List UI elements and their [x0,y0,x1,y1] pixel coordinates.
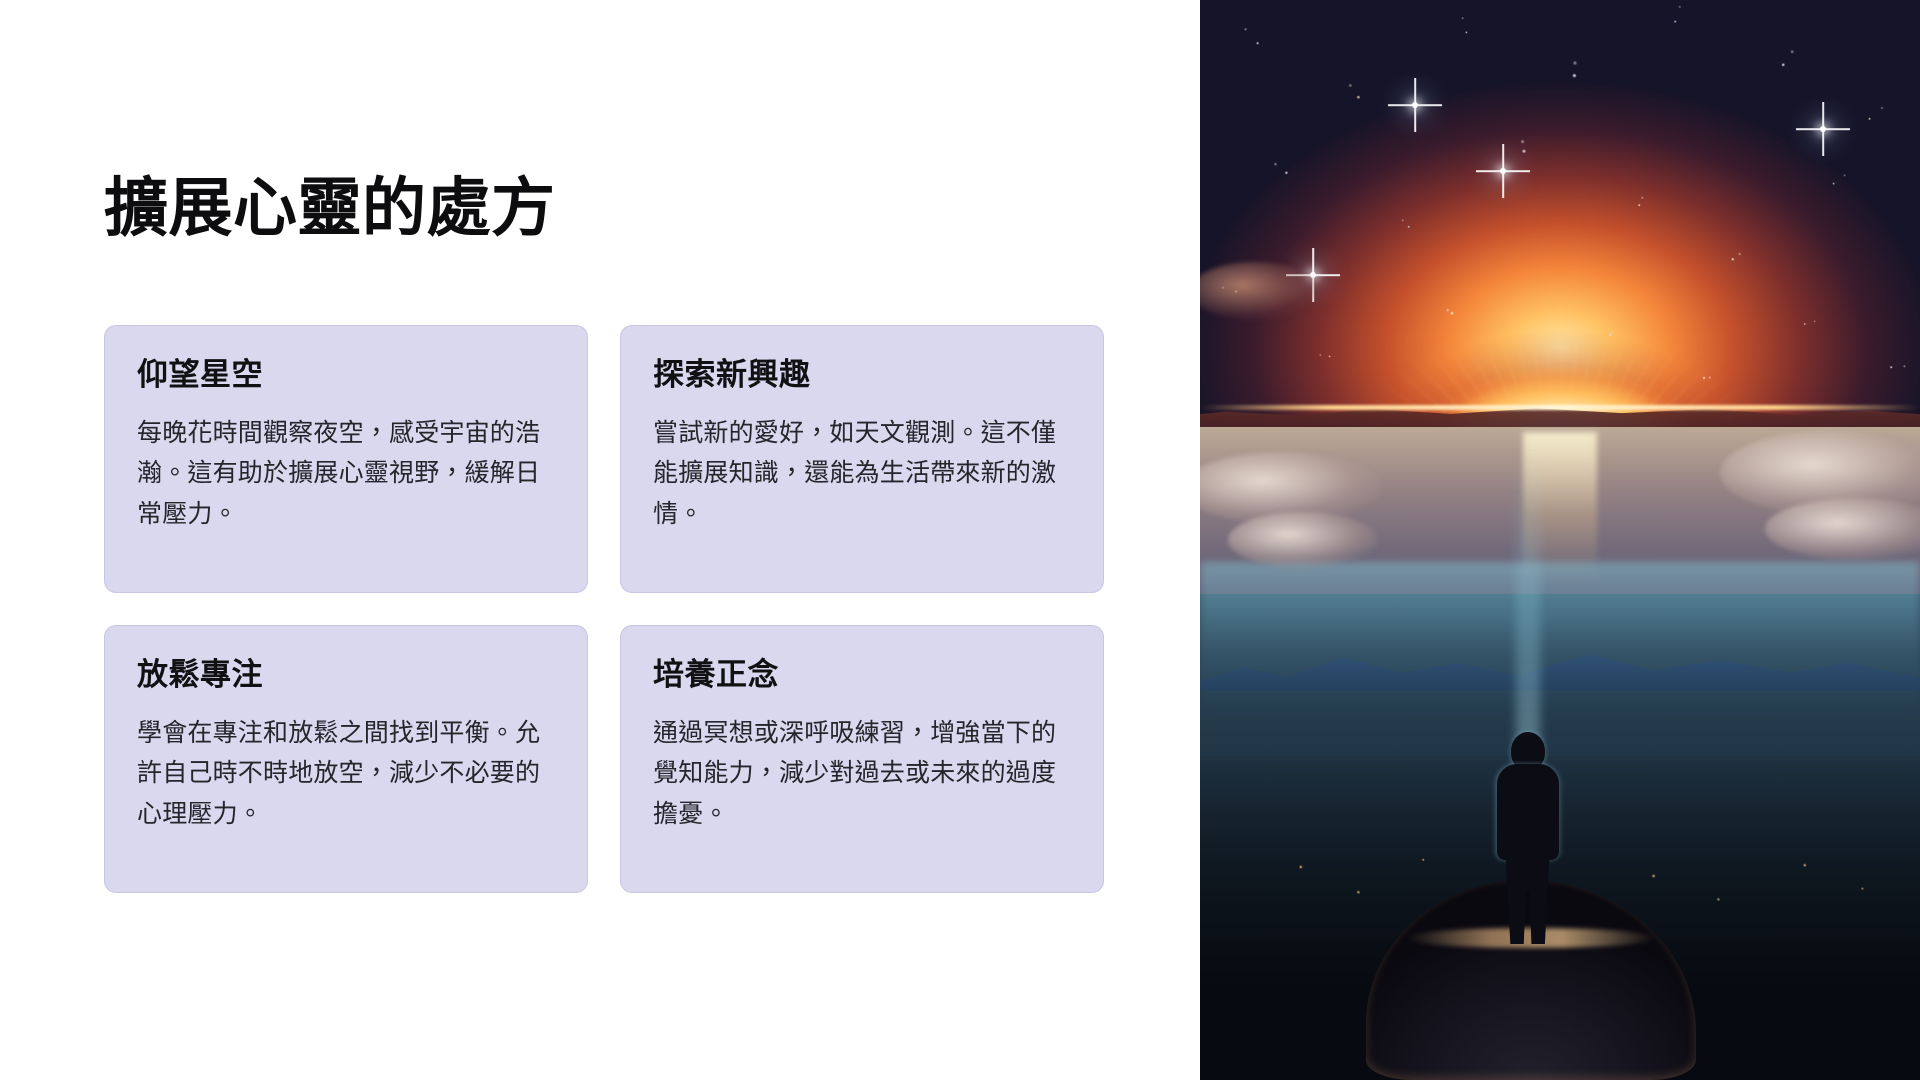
card-item-4[interactable]: 培養正念 通過冥想或深呼吸練習，增強當下的覺知能力，減少對過去或未來的過度擔憂。 [620,625,1104,893]
cloud-shape [1228,512,1378,568]
card-item-1[interactable]: 仰望星空 每晚花時間觀察夜空，感受宇宙的浩瀚。這有助於擴展心靈視野，緩解日常壓力… [104,325,588,593]
card-item-3[interactable]: 放鬆專注 學會在專注和放鬆之間找到平衡。允許自己時不時地放空，減少不必要的心理壓… [104,625,588,893]
slide-root: 擴展心靈的處方 仰望星空 每晚花時間觀察夜空，感受宇宙的浩瀚。這有助於擴展心靈視… [0,0,1920,1080]
card-body-2: 嘗試新的愛好，如天文觀測。這不僅能擴展知識，還能為生活帶來新的激情。 [653,413,1073,535]
card-grid: 仰望星空 每晚花時間觀察夜空，感受宇宙的浩瀚。這有助於擴展心靈視野，緩解日常壓力… [104,325,1104,893]
horizon-glow [1200,405,1920,410]
card-title-3: 放鬆專注 [137,656,557,695]
content-pane: 擴展心靈的處方 仰望星空 每晚花時間觀察夜空，感受宇宙的浩瀚。這有助於擴展心靈視… [0,0,1200,1080]
artwork-pane [1200,0,1920,1080]
card-body-4: 通過冥想或深呼吸練習，增強當下的覺知能力，減少對過去或未來的過度擔憂。 [653,713,1073,835]
light-beam [1516,450,1540,780]
person-silhouette [1482,732,1574,942]
card-body-1: 每晚花時間觀察夜空，感受宇宙的浩瀚。這有助於擴展心靈視野，緩解日常壓力。 [137,413,557,535]
figure-legs [1504,854,1552,944]
card-body-3: 學會在專注和放鬆之間找到平衡。允許自己時不時地放空，減少不必要的心理壓力。 [137,713,557,835]
card-title-1: 仰望星空 [137,356,557,395]
card-item-2[interactable]: 探索新興趣 嘗試新的愛好，如天文觀測。這不僅能擴展知識，還能為生活帶來新的激情。 [620,325,1104,593]
figure-torso [1497,764,1559,860]
card-title-2: 探索新興趣 [653,356,1073,395]
starry-sky-illustration-icon [1200,0,1920,1080]
card-title-4: 培養正念 [653,656,1073,695]
page-title: 擴展心靈的處方 [104,172,556,246]
bright-star-icon [1412,102,1418,108]
